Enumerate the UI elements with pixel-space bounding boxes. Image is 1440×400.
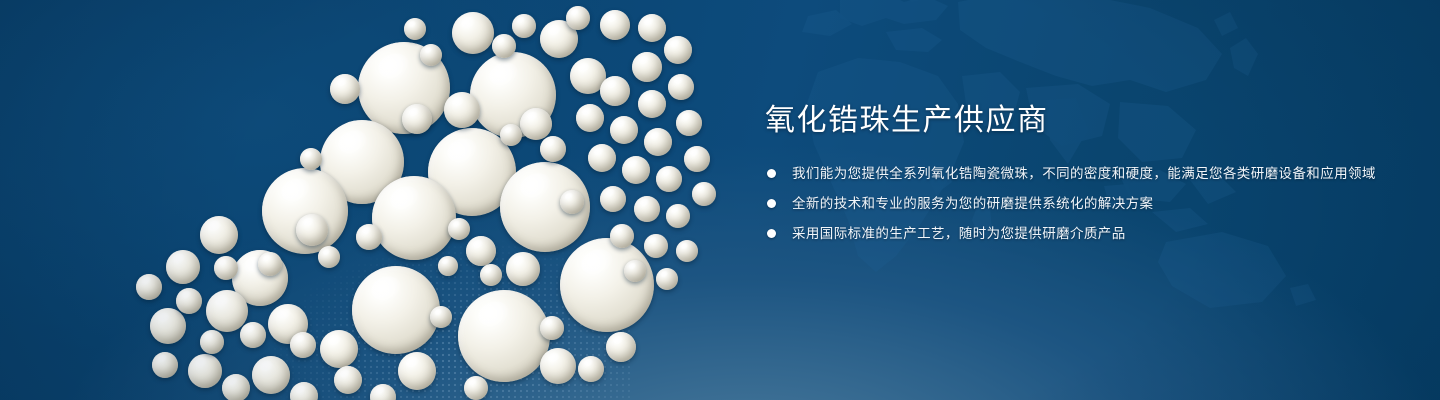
page-title: 氧化锆珠生产供应商: [765, 104, 1385, 137]
feature-text: 采用国际标准的生产工艺，随时为您提供研磨介质产品: [792, 223, 1385, 244]
dot-bullet-icon: [767, 199, 776, 208]
feature-list: 我们能为您提供全系列氧化锆陶瓷微珠，不同的密度和硬度，能满足您各类研磨设备和应用…: [765, 163, 1385, 244]
dot-bullet-icon: [767, 229, 776, 238]
dot-bullet-icon: [767, 169, 776, 178]
feature-text: 全新的技术和专业的服务为您的研磨提供系统化的解决方案: [792, 193, 1385, 214]
banner-copy: 氧化锆珠生产供应商 我们能为您提供全系列氧化锆陶瓷微珠，不同的密度和硬度，能满足…: [765, 104, 1385, 244]
feature-text: 我们能为您提供全系列氧化锆陶瓷微珠，不同的密度和硬度，能满足您各类研磨设备和应用…: [792, 163, 1385, 184]
hero-banner: 氧化锆珠生产供应商 我们能为您提供全系列氧化锆陶瓷微珠，不同的密度和硬度，能满足…: [0, 0, 1440, 400]
list-item: 采用国际标准的生产工艺，随时为您提供研磨介质产品: [765, 223, 1385, 244]
list-item: 我们能为您提供全系列氧化锆陶瓷微珠，不同的密度和硬度，能满足您各类研磨设备和应用…: [765, 163, 1385, 184]
list-item: 全新的技术和专业的服务为您的研磨提供系统化的解决方案: [765, 193, 1385, 214]
